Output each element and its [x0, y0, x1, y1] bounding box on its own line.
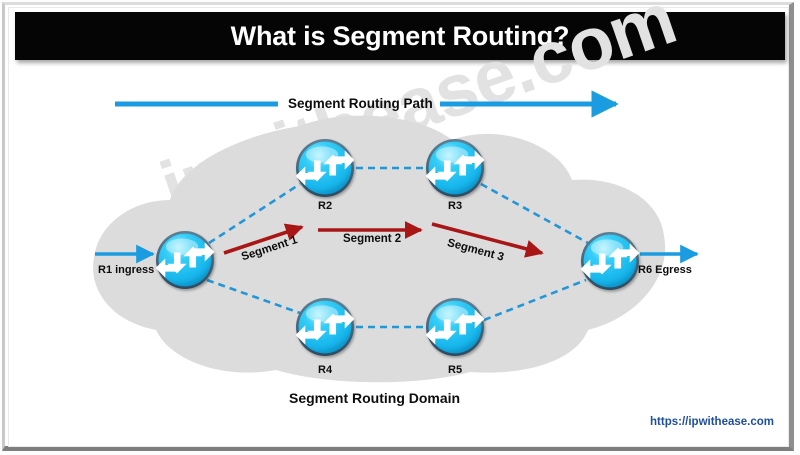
router-node-r5[interactable] [426, 298, 485, 356]
router-node-r6[interactable] [581, 232, 640, 290]
node-label-r6: R6 Egress [638, 264, 692, 276]
node-label-r2: R2 [318, 200, 332, 212]
node-label-r4: R4 [318, 364, 332, 376]
node-label-r1: R1 ingress [98, 264, 154, 276]
screenshot-root: What is Segment Routing? ipwithease.com [0, 0, 800, 455]
network-diagram [0, 0, 800, 455]
path-arrow-label: Segment Routing Path [288, 96, 433, 111]
segment-label-2: Segment 2 [343, 233, 401, 245]
footer-url: https://ipwithease.com [650, 416, 774, 428]
cloud-label: Segment Routing Domain [289, 390, 460, 406]
node-label-r3: R3 [448, 200, 462, 212]
router-node-r2[interactable] [296, 139, 355, 197]
router-node-r3[interactable] [426, 139, 485, 197]
router-node-r1[interactable] [156, 231, 215, 289]
node-label-r5: R5 [448, 364, 462, 376]
router-node-r4[interactable] [296, 298, 355, 356]
